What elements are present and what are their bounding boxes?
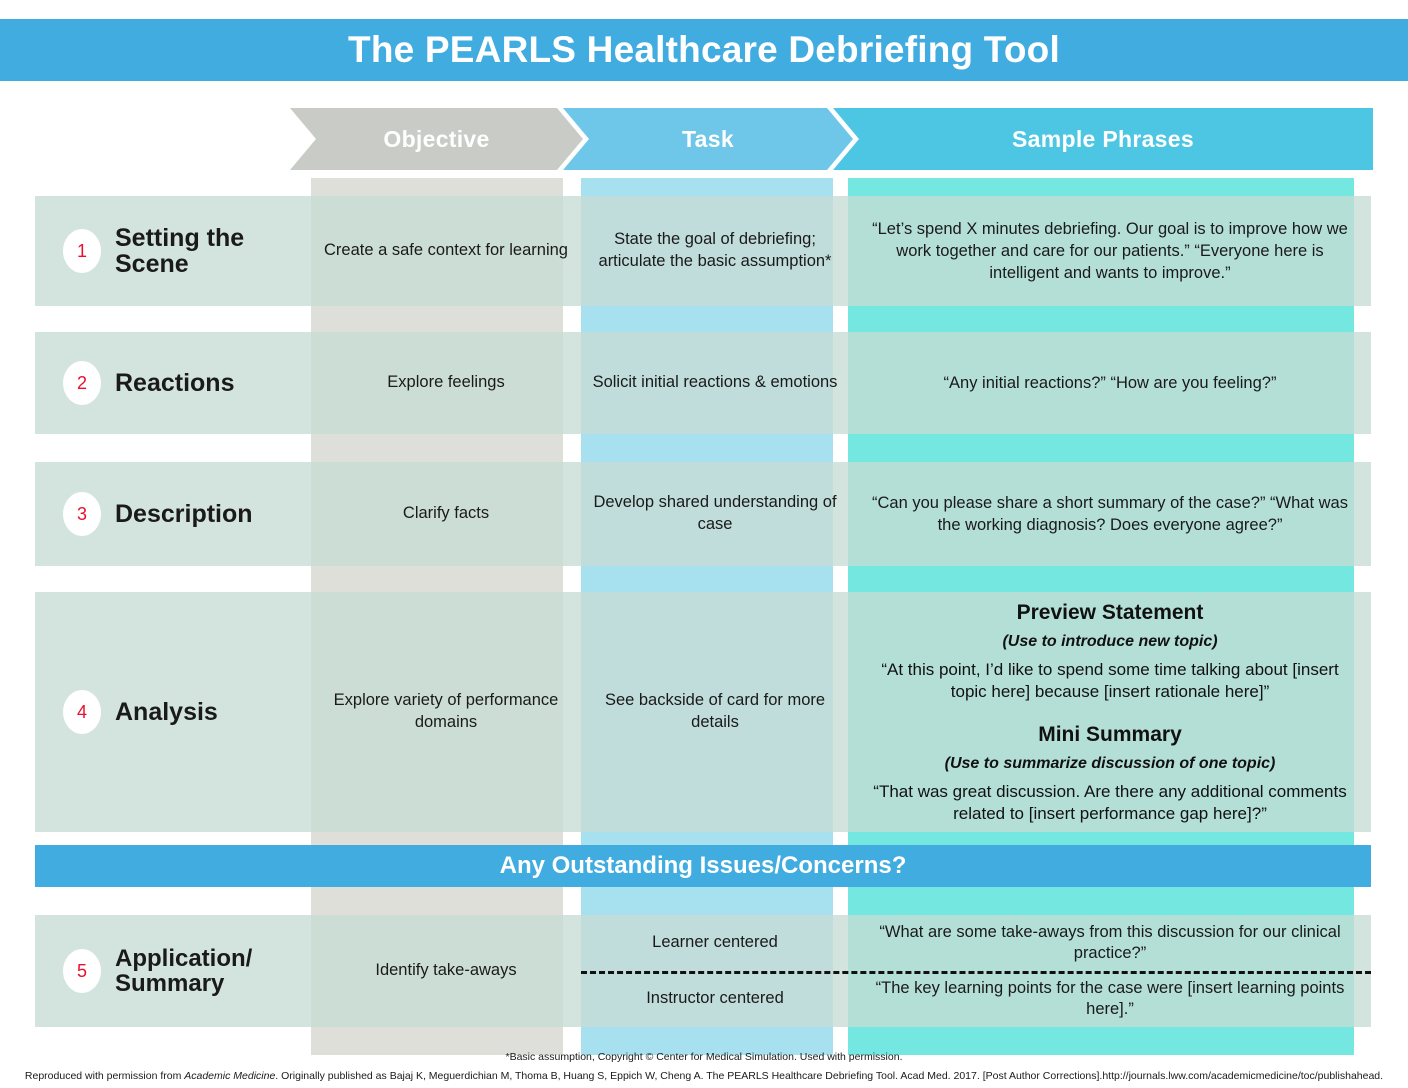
column-header-task-label: Task <box>682 126 734 153</box>
mini-summary-heading: Mini Summary <box>1038 721 1182 749</box>
row-3-step: 3 Description <box>35 462 311 566</box>
column-header-objective-label: Objective <box>383 126 489 153</box>
row-5-divider <box>581 971 1371 974</box>
table-row: 3 Description Clarify facts Develop shar… <box>35 462 1371 566</box>
row-4-task: See backside of card for more details <box>581 592 849 832</box>
mini-summary-subheading: (Use to summarize discussion of one topi… <box>945 753 1276 774</box>
row-4-step: 4 Analysis <box>35 592 311 832</box>
step-name: Description <box>115 501 253 528</box>
outstanding-issues-banner: Any Outstanding Issues/Concerns? <box>35 845 1371 887</box>
step-number-badge: 2 <box>63 361 101 405</box>
row-3-sample-phrases: “Can you please share a short summary of… <box>849 462 1371 566</box>
footer-citation-journal: Academic Medicine <box>184 1070 275 1082</box>
step-name: Analysis <box>115 699 218 726</box>
row-5-step: 5 Application/ Summary <box>35 915 311 1027</box>
step-name: Application/ Summary <box>115 946 311 997</box>
footer-basic-assumption-note: *Basic assumption, Copyright © Center fo… <box>0 1051 1408 1063</box>
preview-statement-heading: Preview Statement <box>1017 599 1204 627</box>
row-1-objective: Create a safe context for learning <box>311 196 581 306</box>
row-5-task-instructor: Instructor centered <box>634 971 796 1027</box>
row-3-objective: Clarify facts <box>311 462 581 566</box>
row-1-sample-phrases: “Let’s spend X minutes debriefing. Our g… <box>849 196 1371 306</box>
step-number-badge: 5 <box>63 949 101 993</box>
row-1-step: 1 Setting the Scene <box>35 196 311 306</box>
table-row: 2 Reactions Explore feelings Solicit ini… <box>35 332 1371 434</box>
step-name: Setting the Scene <box>115 225 311 278</box>
row-2-step: 2 Reactions <box>35 332 311 434</box>
row-4-sample-phrases: Preview Statement (Use to introduce new … <box>849 592 1371 832</box>
row-2-task: Solicit initial reactions & emotions <box>581 332 849 434</box>
step-number-badge: 1 <box>63 229 101 273</box>
row-5-phrases-instructor: “The key learning points for the case we… <box>863 971 1357 1027</box>
footer-citation: Reproduced with permission from Academic… <box>0 1070 1408 1082</box>
footer-citation-part1: Reproduced with permission from <box>25 1070 184 1082</box>
column-header-task: Task <box>563 108 853 170</box>
row-4-objective: Explore variety of performance domains <box>311 592 581 832</box>
row-5-phrases-learner: “What are some take-aways from this disc… <box>863 915 1357 971</box>
step-number-badge: 4 <box>63 690 101 734</box>
column-header-objective: Objective <box>290 108 583 170</box>
table-row: 1 Setting the Scene Create a safe contex… <box>35 196 1371 306</box>
row-5-objective: Identify take-aways <box>311 915 581 1027</box>
row-2-sample-phrases: “Any initial reactions?” “How are you fe… <box>849 332 1371 434</box>
row-1-task: State the goal of debriefing; articulate… <box>581 196 849 306</box>
row-5-task-learner: Learner centered <box>640 915 790 971</box>
row-2-objective: Explore feelings <box>311 332 581 434</box>
table-row: 4 Analysis Explore variety of performanc… <box>35 592 1371 832</box>
row-3-task: Develop shared understanding of case <box>581 462 849 566</box>
footer-citation-part2: . Originally published as Bajaj K, Megue… <box>275 1070 1383 1082</box>
step-number-badge: 3 <box>63 492 101 536</box>
mini-summary-quote: “That was great discussion. Are there an… <box>863 781 1357 825</box>
page-title: The PEARLS Healthcare Debriefing Tool <box>348 29 1060 71</box>
infographic-page: The PEARLS Healthcare Debriefing Tool Ob… <box>0 0 1408 1088</box>
outstanding-issues-banner-text: Any Outstanding Issues/Concerns? <box>500 852 907 880</box>
preview-statement-subheading: (Use to introduce new topic) <box>1002 631 1217 652</box>
step-name: Reactions <box>115 370 234 397</box>
preview-statement-quote: “At this point, I’d like to spend some t… <box>863 659 1357 703</box>
column-header-sample-phrases-label: Sample Phrases <box>1012 126 1194 153</box>
page-title-bar: The PEARLS Healthcare Debriefing Tool <box>0 19 1408 81</box>
column-header-sample-phrases: Sample Phrases <box>833 108 1373 170</box>
